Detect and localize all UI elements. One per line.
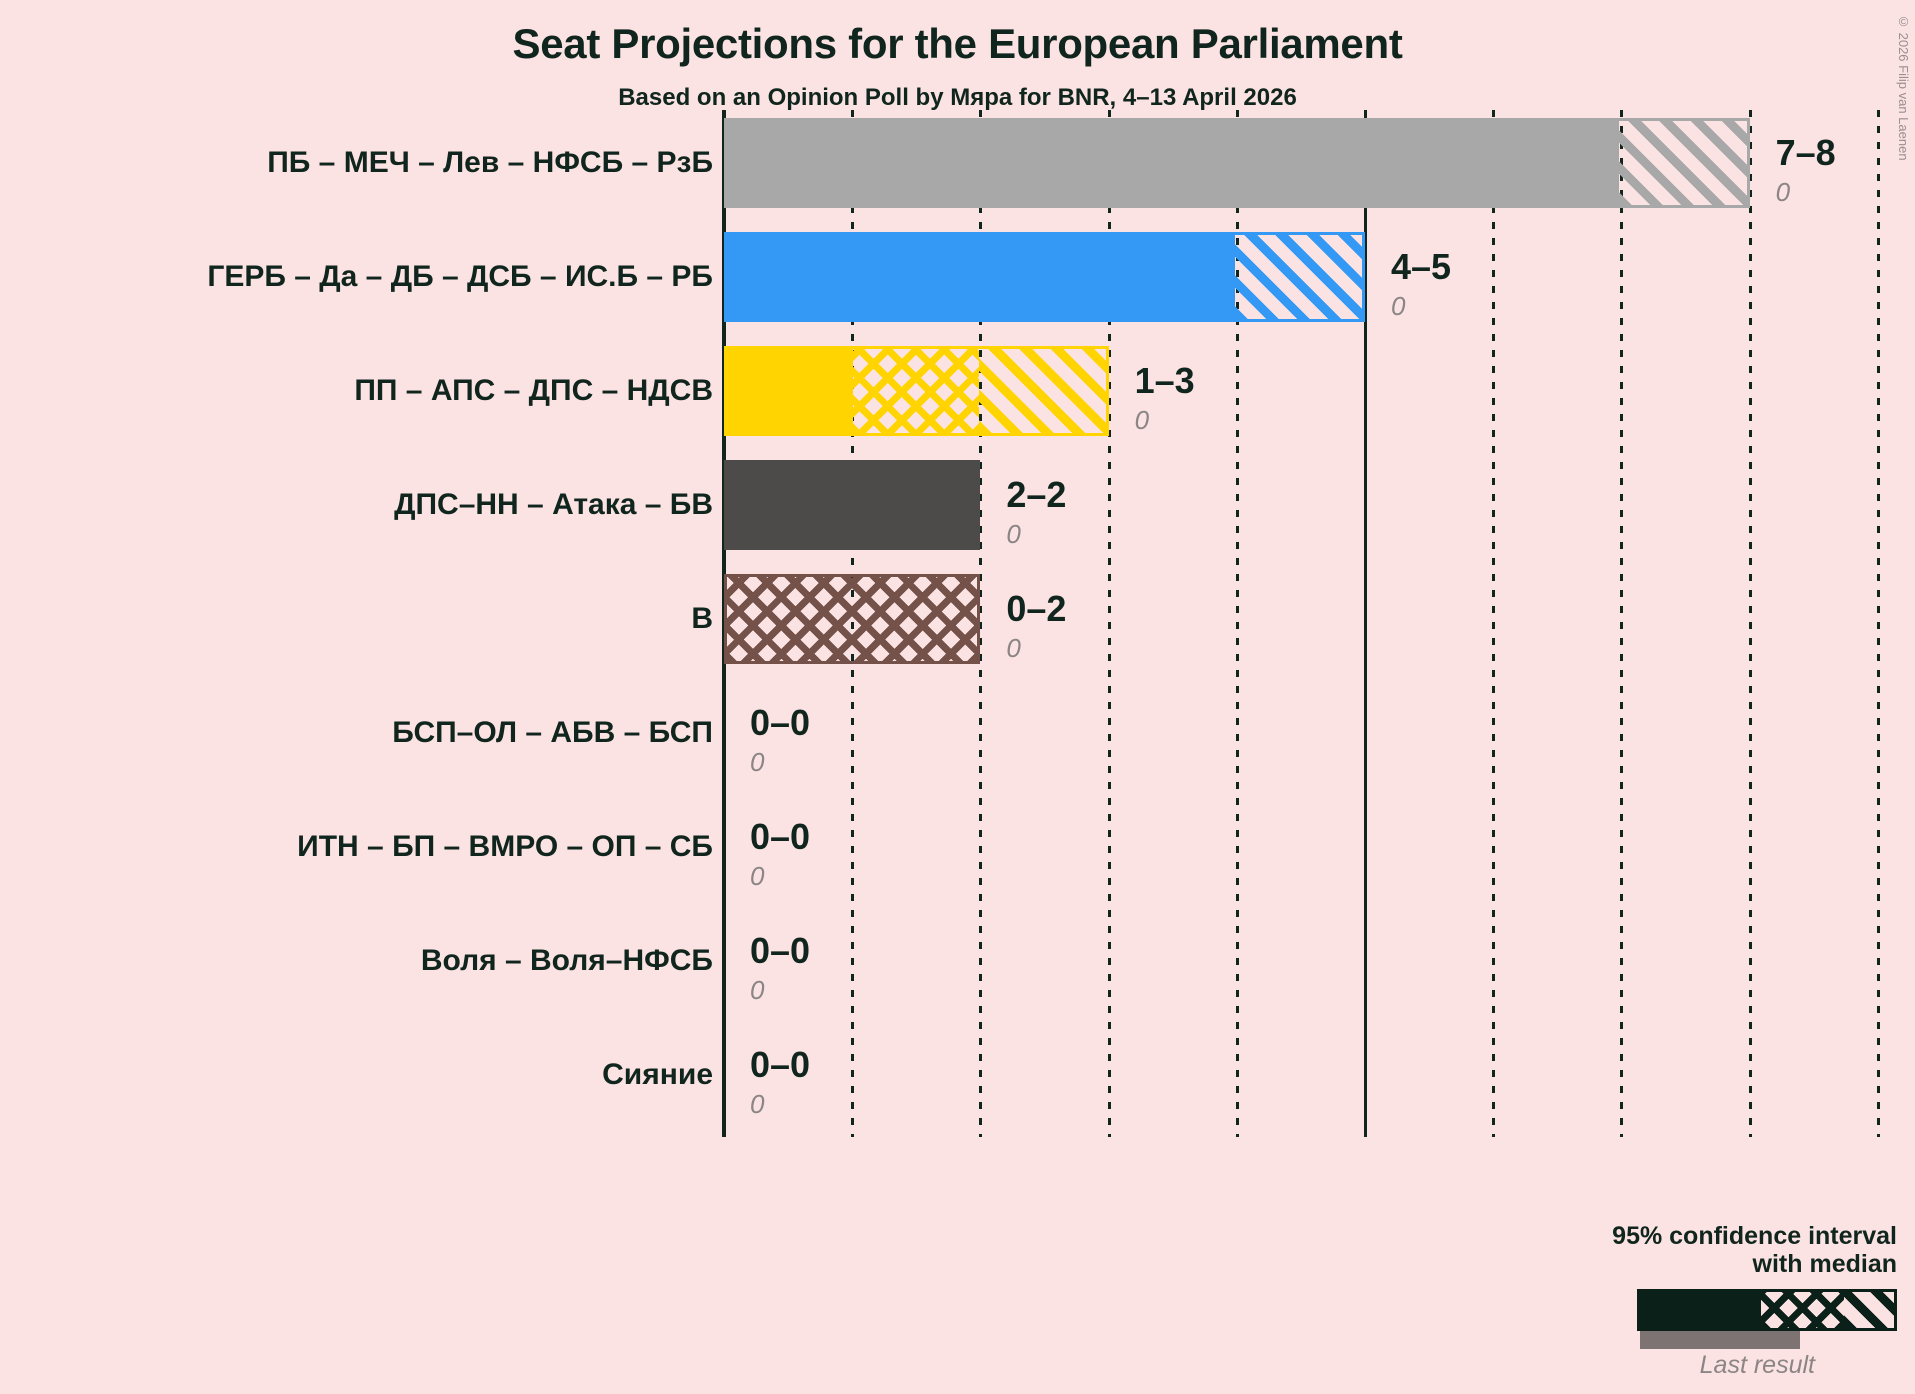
last-result-label: 0	[750, 749, 764, 775]
category-label: В	[691, 604, 713, 634]
seat-range-label: 0–2	[1006, 591, 1066, 627]
bar-segment-diagonal	[1619, 121, 1746, 205]
seat-range-label: 0–0	[750, 933, 810, 969]
chart-canvas: Seat Projections for the European Parlia…	[0, 0, 1915, 1394]
category-label: ДПС–НН – Атака – БВ	[394, 490, 713, 520]
seat-range-label: 1–3	[1135, 363, 1195, 399]
seat-range-label: 0–0	[750, 819, 810, 855]
last-result-label: 0	[750, 1091, 764, 1117]
category-label: Воля – Воля–НФСБ	[421, 946, 713, 976]
page-title: Seat Projections for the European Parlia…	[0, 20, 1915, 68]
bar-segment-diagonal	[1235, 235, 1362, 319]
category-label: ПП – АПС – ДПС – НДСВ	[354, 376, 713, 406]
confidence-interval-bar	[724, 574, 980, 664]
legend-last-result-label: Last result	[1567, 1351, 1815, 1380]
legend-swatch-bar	[1637, 1289, 1897, 1331]
plot-area: ПБ – МЕЧ – Лев – НФСБ – РзБ7–80ГЕРБ – Да…	[0, 110, 1915, 1360]
last-result-label: 0	[1391, 293, 1405, 319]
bar-segment-solid	[727, 235, 1235, 319]
confidence-interval-bar	[724, 346, 1109, 436]
confidence-interval-bar	[724, 460, 980, 550]
bar-row: ИТН – БП – ВМРО – ОП – СБ0–00	[0, 802, 1915, 892]
category-label: БСП–ОЛ – АБВ – БСП	[392, 718, 713, 748]
legend-solid-segment	[1640, 1292, 1761, 1328]
seat-range-label: 2–2	[1006, 477, 1066, 513]
legend-last-result-swatch	[1640, 1331, 1800, 1349]
last-result-label: 0	[1006, 521, 1020, 547]
bar-segment-solid	[727, 121, 1619, 205]
bar-segment-crosshatch	[727, 577, 977, 661]
seat-range-label: 0–0	[750, 1047, 810, 1083]
bar-row: БСП–ОЛ – АБВ – БСП0–00	[0, 688, 1915, 778]
category-label: Сияние	[602, 1060, 713, 1090]
page-subtitle: Based on an Opinion Poll by Мяра for BNR…	[0, 84, 1915, 112]
bar-row: ПП – АПС – ДПС – НДСВ1–30	[0, 346, 1915, 436]
category-label: ГЕРБ – Да – ДБ – ДСБ – ИС.Б – РБ	[207, 262, 713, 292]
bar-row: В0–20	[0, 574, 1915, 664]
legend-crosshatch-segment	[1761, 1292, 1844, 1328]
legend-diagonal-segment	[1844, 1292, 1894, 1328]
bar-segment-crosshatch	[853, 349, 979, 433]
last-result-label: 0	[1135, 407, 1149, 433]
confidence-interval-bar	[724, 232, 1365, 322]
seat-range-label: 4–5	[1391, 249, 1451, 285]
bar-row: ГЕРБ – Да – ДБ – ДСБ – ИС.Б – РБ4–50	[0, 232, 1915, 322]
confidence-interval-bar	[724, 118, 1750, 208]
bar-row: ПБ – МЕЧ – Лев – НФСБ – РзБ7–80	[0, 118, 1915, 208]
last-result-label: 0	[1006, 635, 1020, 661]
bar-segment-solid	[727, 349, 853, 433]
bar-segment-diagonal	[979, 349, 1105, 433]
legend-title-line1: 95% confidence interval	[1567, 1222, 1897, 1251]
last-result-label: 0	[750, 977, 764, 1003]
bar-row: Сияние0–00	[0, 1030, 1915, 1120]
bar-segment-solid	[727, 463, 977, 547]
legend-title-line2: with median	[1567, 1250, 1897, 1279]
bar-row: ДПС–НН – Атака – БВ2–20	[0, 460, 1915, 550]
last-result-label: 0	[1776, 179, 1790, 205]
category-label: ИТН – БП – ВМРО – ОП – СБ	[297, 832, 713, 862]
legend: 95% confidence interval with median Last…	[1567, 1222, 1897, 1381]
seat-range-label: 0–0	[750, 705, 810, 741]
bar-row: Воля – Воля–НФСБ0–00	[0, 916, 1915, 1006]
seat-range-label: 7–8	[1776, 135, 1836, 171]
last-result-label: 0	[750, 863, 764, 889]
category-label: ПБ – МЕЧ – Лев – НФСБ – РзБ	[267, 148, 713, 178]
